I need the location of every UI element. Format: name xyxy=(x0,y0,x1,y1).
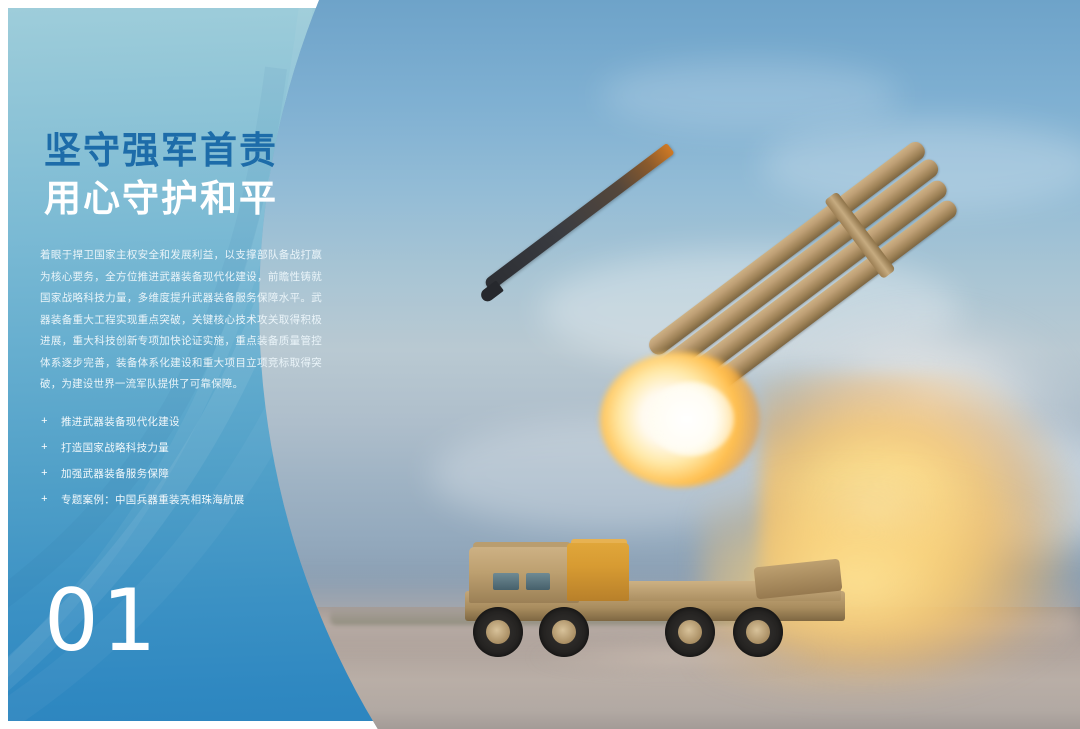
truck-wheel xyxy=(733,607,783,657)
slide-root: 坚守强军首责 用心守护和平 着眼于捍卫国家主权安全和发展利益，以支撑部队备战打赢… xyxy=(0,0,1080,729)
list-item-label: 推进武器装备现代化建设 xyxy=(61,414,180,429)
plus-icon: + xyxy=(40,468,49,479)
plus-icon: + xyxy=(40,442,49,453)
wheel-hub xyxy=(678,620,702,644)
cloud-5 xyxy=(600,60,900,130)
bullet-list: + 推进武器装备现代化建设 + 打造国家战略科技力量 + 加强武器装备服务保障 … xyxy=(40,408,340,512)
wheel-hub xyxy=(486,620,510,644)
title-line-primary: 坚守强军首责 xyxy=(44,128,344,174)
list-item-label: 打造国家战略科技力量 xyxy=(61,440,169,455)
plus-icon: + xyxy=(40,494,49,505)
list-item[interactable]: + 推进武器装备现代化建设 xyxy=(40,408,340,434)
truck-window xyxy=(526,573,550,590)
list-item[interactable]: + 加强武器装备服务保障 xyxy=(40,460,340,486)
launcher-truck xyxy=(455,533,875,668)
list-item[interactable]: + 专题案例：中国兵器重装亮相珠海航展 xyxy=(40,486,340,512)
launch-fireball-core xyxy=(648,382,734,456)
truck-engine-hood xyxy=(567,543,629,601)
wheel-hub xyxy=(746,620,770,644)
page-title: 坚守强军首责 用心守护和平 xyxy=(44,128,344,223)
truck-wheel xyxy=(665,607,715,657)
body-paragraph: 着眼于捍卫国家主权安全和发展利益，以支撑部队备战打赢为核心要务，全方位推进武器装… xyxy=(40,245,322,396)
title-line-secondary: 用心守护和平 xyxy=(44,176,344,222)
list-item-label: 加强武器装备服务保障 xyxy=(61,466,169,481)
list-item-label: 专题案例：中国兵器重装亮相珠海航展 xyxy=(61,492,245,507)
truck-wheel xyxy=(473,607,523,657)
truck-window xyxy=(493,573,519,590)
truck-wheel xyxy=(539,607,589,657)
truck-cab xyxy=(469,547,579,603)
section-number: 01 xyxy=(44,578,159,664)
list-item[interactable]: + 打造国家战略科技力量 xyxy=(40,434,340,460)
plus-icon: + xyxy=(40,416,49,427)
wheel-hub xyxy=(552,620,576,644)
